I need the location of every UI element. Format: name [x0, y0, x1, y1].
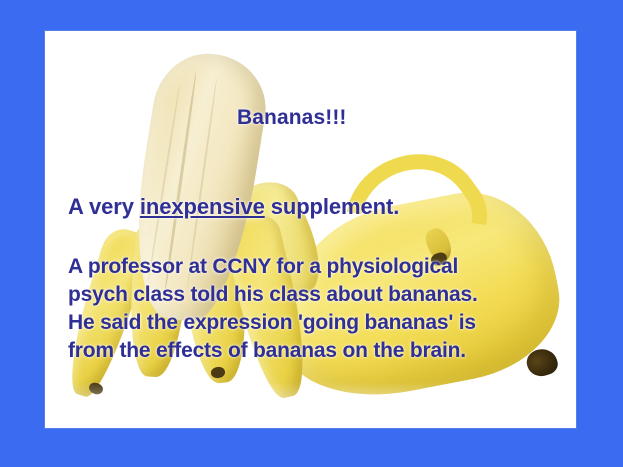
tagline-text-after: supplement. — [265, 194, 400, 219]
slide-body-paragraph: A professor at CCNY for a physiological … — [68, 253, 568, 365]
slide-content-panel: Bananas!!! A very inexpensive supplement… — [45, 31, 576, 428]
tagline-text-before: A very — [68, 194, 140, 219]
slide-tagline: A very inexpensive supplement. — [68, 194, 399, 220]
body-line: from the effects of bananas on the brain… — [68, 337, 568, 365]
slide-frame: Bananas!!! A very inexpensive supplement… — [0, 0, 623, 467]
body-line: He said the expression 'going bananas' i… — [68, 309, 568, 337]
slide-text-layer: Bananas!!! A very inexpensive supplement… — [45, 31, 576, 428]
body-line: A professor at CCNY for a physiological — [68, 253, 568, 281]
body-line: psych class told his class about bananas… — [68, 281, 568, 309]
slide-title: Bananas!!! — [237, 106, 347, 130]
tagline-emphasis: inexpensive — [140, 194, 265, 219]
